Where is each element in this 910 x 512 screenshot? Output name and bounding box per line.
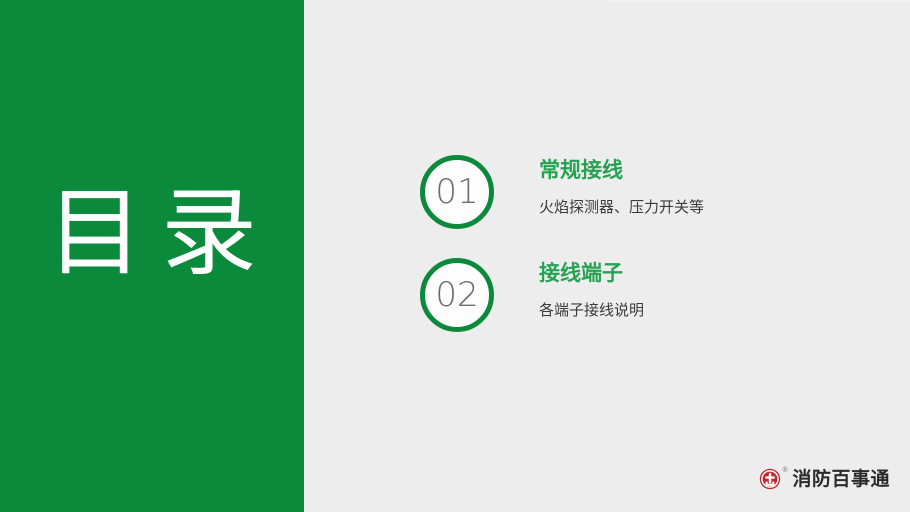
toc-subtitle-02: 各端子接线说明 xyxy=(539,299,644,321)
toc-subtitle-01: 火焰探测器、压力开关等 xyxy=(539,196,704,218)
fire-safety-logo-icon: ® xyxy=(759,468,781,490)
top-hairline xyxy=(608,0,910,1)
content-area: 01 常规接线 火焰探测器、压力开关等 02 接线端子 各端子接线说明 xyxy=(304,0,910,512)
toc-number-badge-01: 01 xyxy=(420,155,494,229)
brand-logo: ® 消防百事通 xyxy=(759,468,890,490)
brand-name: 消防百事通 xyxy=(792,468,890,490)
trademark-symbol: ® xyxy=(782,467,787,474)
page-title: 目录 xyxy=(0,178,304,288)
toc-number-02: 02 xyxy=(435,278,478,312)
toc-text-block-02: 接线端子 各端子接线说明 xyxy=(539,258,644,321)
toc-heading-01[interactable]: 常规接线 xyxy=(539,157,704,184)
toc-entry-02[interactable]: 02 接线端子 各端子接线说明 xyxy=(420,258,644,332)
slide-root: 目录 01 常规接线 火焰探测器、压力开关等 02 接线端子 各端子接线说明 xyxy=(0,0,910,512)
toc-number-badge-02: 02 xyxy=(420,258,494,332)
toc-entry-01[interactable]: 01 常规接线 火焰探测器、压力开关等 xyxy=(420,155,704,229)
left-title-panel: 目录 xyxy=(0,0,304,512)
toc-number-01: 01 xyxy=(435,175,478,209)
toc-heading-02[interactable]: 接线端子 xyxy=(539,260,644,287)
toc-text-block-01: 常规接线 火焰探测器、压力开关等 xyxy=(539,155,704,218)
